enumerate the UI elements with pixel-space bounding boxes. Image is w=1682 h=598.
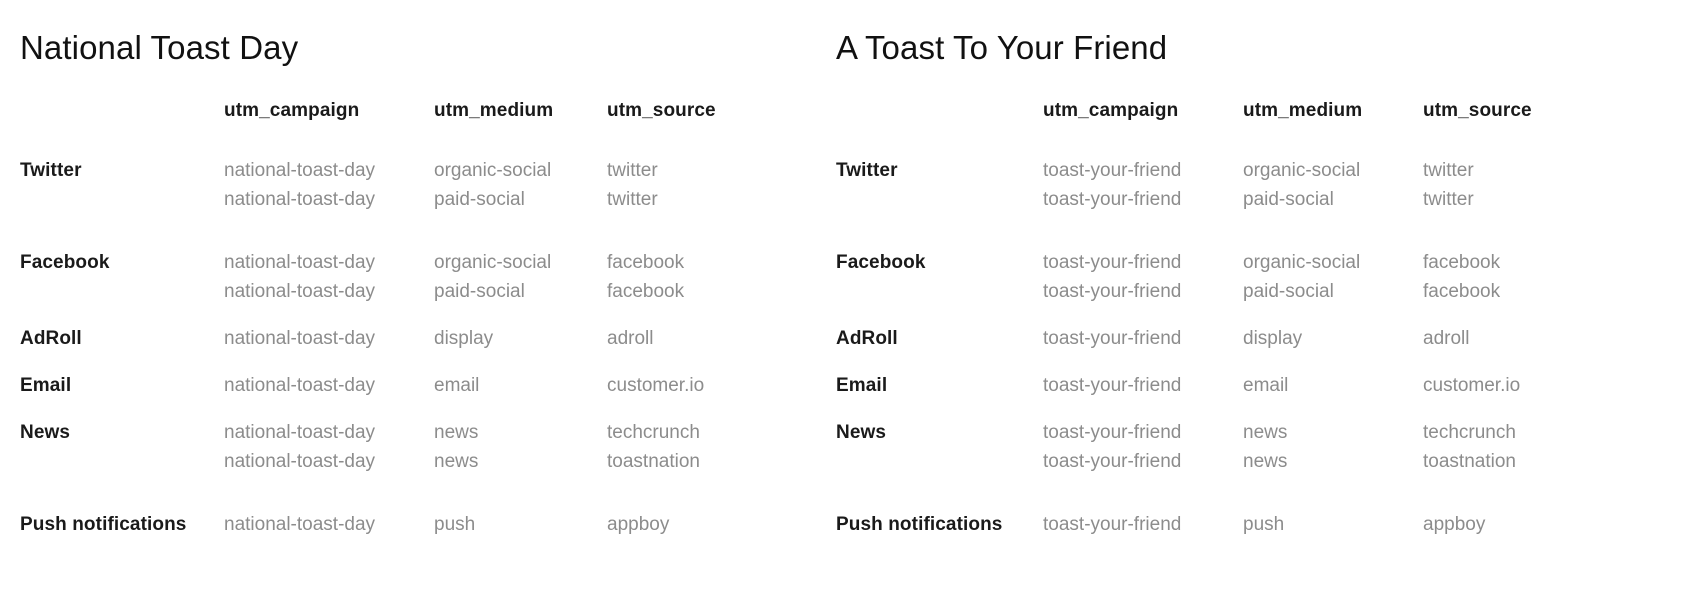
cell-utm-campaign: toast-your-friend (1043, 140, 1243, 185)
panel-national-toast-day: National Toast Day utm_campaign utm_medi… (0, 0, 818, 598)
cell-utm-source: facebook (607, 214, 807, 277)
table-row: News toast-your-friend news techcrunch (836, 400, 1623, 447)
cell-utm-source: facebook (607, 277, 807, 306)
cell-utm-source: customer.io (607, 353, 807, 400)
cell-utm-source: adroll (1423, 306, 1623, 353)
table-row: Facebook toast-your-friend organic-socia… (836, 214, 1623, 277)
cell-utm-source: techcrunch (1423, 400, 1623, 447)
table-body: Twitter national-toast-day organic-socia… (20, 140, 807, 539)
cell-utm-campaign: toast-your-friend (1043, 214, 1243, 277)
row-label-push-notifications: Push notifications (836, 476, 1043, 539)
cell-utm-source: appboy (607, 476, 807, 539)
cell-utm-medium: display (434, 306, 607, 353)
cell-utm-medium: organic-social (1243, 214, 1423, 277)
column-header-utm-medium: utm_medium (1243, 96, 1423, 140)
cell-utm-medium: display (1243, 306, 1423, 353)
table-head: utm_campaign utm_medium utm_source (836, 96, 1623, 140)
cell-utm-campaign: toast-your-friend (1043, 353, 1243, 400)
row-label-twitter: Twitter (836, 140, 1043, 185)
row-label-continuation (20, 277, 224, 306)
table-row: toast-your-friend paid-social twitter (836, 185, 1623, 214)
cell-utm-campaign: toast-your-friend (1043, 306, 1243, 353)
cell-utm-medium: news (1243, 400, 1423, 447)
cell-utm-medium: push (434, 476, 607, 539)
row-label-email: Email (836, 353, 1043, 400)
column-header-blank (20, 96, 224, 140)
cell-utm-campaign: toast-your-friend (1043, 277, 1243, 306)
cell-utm-campaign: toast-your-friend (1043, 185, 1243, 214)
table-row: Twitter national-toast-day organic-socia… (20, 140, 807, 185)
cell-utm-source: twitter (1423, 140, 1623, 185)
table-body: Twitter toast-your-friend organic-social… (836, 140, 1623, 539)
table-row: Email toast-your-friend email customer.i… (836, 353, 1623, 400)
cell-utm-source: twitter (607, 185, 807, 214)
page-title: National Toast Day (20, 0, 818, 68)
cell-utm-medium: news (434, 447, 607, 476)
cell-utm-source: toastnation (1423, 447, 1623, 476)
row-label-news: News (20, 400, 224, 447)
cell-utm-source: facebook (1423, 277, 1623, 306)
cell-utm-source: twitter (1423, 185, 1623, 214)
column-header-blank (836, 96, 1043, 140)
column-header-utm-source: utm_source (607, 96, 807, 140)
cell-utm-medium: paid-social (434, 185, 607, 214)
page-title: A Toast To Your Friend (836, 0, 1682, 68)
row-label-facebook: Facebook (20, 214, 224, 277)
table-row: toast-your-friend paid-social facebook (836, 277, 1623, 306)
cell-utm-medium: email (1243, 353, 1423, 400)
cell-utm-campaign: national-toast-day (224, 353, 434, 400)
table-row: Push notifications national-toast-day pu… (20, 476, 807, 539)
cell-utm-medium: paid-social (434, 277, 607, 306)
table-row: News national-toast-day news techcrunch (20, 400, 807, 447)
table-row: Twitter toast-your-friend organic-social… (836, 140, 1623, 185)
table-row: national-toast-day news toastnation (20, 447, 807, 476)
cell-utm-source: adroll (607, 306, 807, 353)
cell-utm-campaign: national-toast-day (224, 476, 434, 539)
cell-utm-medium: paid-social (1243, 277, 1423, 306)
table-row: toast-your-friend news toastnation (836, 447, 1623, 476)
column-header-utm-medium: utm_medium (434, 96, 607, 140)
cell-utm-campaign: national-toast-day (224, 140, 434, 185)
row-label-twitter: Twitter (20, 140, 224, 185)
cell-utm-campaign: national-toast-day (224, 306, 434, 353)
table-row: AdRoll national-toast-day display adroll (20, 306, 807, 353)
cell-utm-source: customer.io (1423, 353, 1623, 400)
row-label-continuation (836, 185, 1043, 214)
cell-utm-campaign: national-toast-day (224, 400, 434, 447)
cell-utm-campaign: toast-your-friend (1043, 447, 1243, 476)
cell-utm-source: techcrunch (607, 400, 807, 447)
table-row: national-toast-day paid-social twitter (20, 185, 807, 214)
cell-utm-campaign: toast-your-friend (1043, 476, 1243, 539)
cell-utm-campaign: national-toast-day (224, 447, 434, 476)
table-row: national-toast-day paid-social facebook (20, 277, 807, 306)
cell-utm-medium: organic-social (434, 140, 607, 185)
cell-utm-medium: news (434, 400, 607, 447)
cell-utm-source: toastnation (607, 447, 807, 476)
cell-utm-medium: paid-social (1243, 185, 1423, 214)
table-row: Push notifications toast-your-friend pus… (836, 476, 1623, 539)
cell-utm-medium: news (1243, 447, 1423, 476)
panel-a-toast-to-your-friend: A Toast To Your Friend utm_campaign utm_… (818, 0, 1682, 598)
utm-table-a-toast-to-your-friend: utm_campaign utm_medium utm_source Twitt… (836, 96, 1623, 539)
row-label-news: News (836, 400, 1043, 447)
row-label-facebook: Facebook (836, 214, 1043, 277)
cell-utm-medium: push (1243, 476, 1423, 539)
cell-utm-campaign: national-toast-day (224, 214, 434, 277)
table-row: Email national-toast-day email customer.… (20, 353, 807, 400)
row-label-push-notifications: Push notifications (20, 476, 224, 539)
cell-utm-medium: organic-social (434, 214, 607, 277)
utm-reference-board: National Toast Day utm_campaign utm_medi… (0, 0, 1682, 598)
column-header-utm-campaign: utm_campaign (1043, 96, 1243, 140)
cell-utm-medium: organic-social (1243, 140, 1423, 185)
column-header-utm-campaign: utm_campaign (224, 96, 434, 140)
cell-utm-campaign: national-toast-day (224, 185, 434, 214)
cell-utm-campaign: national-toast-day (224, 277, 434, 306)
table-row: Facebook national-toast-day organic-soci… (20, 214, 807, 277)
cell-utm-source: appboy (1423, 476, 1623, 539)
cell-utm-source: twitter (607, 140, 807, 185)
row-label-email: Email (20, 353, 224, 400)
row-label-continuation (20, 185, 224, 214)
table-header-row: utm_campaign utm_medium utm_source (836, 96, 1623, 140)
table-head: utm_campaign utm_medium utm_source (20, 96, 807, 140)
utm-table-national-toast-day: utm_campaign utm_medium utm_source Twitt… (20, 96, 807, 539)
cell-utm-medium: email (434, 353, 607, 400)
row-label-continuation (836, 447, 1043, 476)
table-row: AdRoll toast-your-friend display adroll (836, 306, 1623, 353)
row-label-continuation (836, 277, 1043, 306)
table-header-row: utm_campaign utm_medium utm_source (20, 96, 807, 140)
row-label-adroll: AdRoll (20, 306, 224, 353)
cell-utm-campaign: toast-your-friend (1043, 400, 1243, 447)
column-header-utm-source: utm_source (1423, 96, 1623, 140)
cell-utm-source: facebook (1423, 214, 1623, 277)
row-label-continuation (20, 447, 224, 476)
row-label-adroll: AdRoll (836, 306, 1043, 353)
